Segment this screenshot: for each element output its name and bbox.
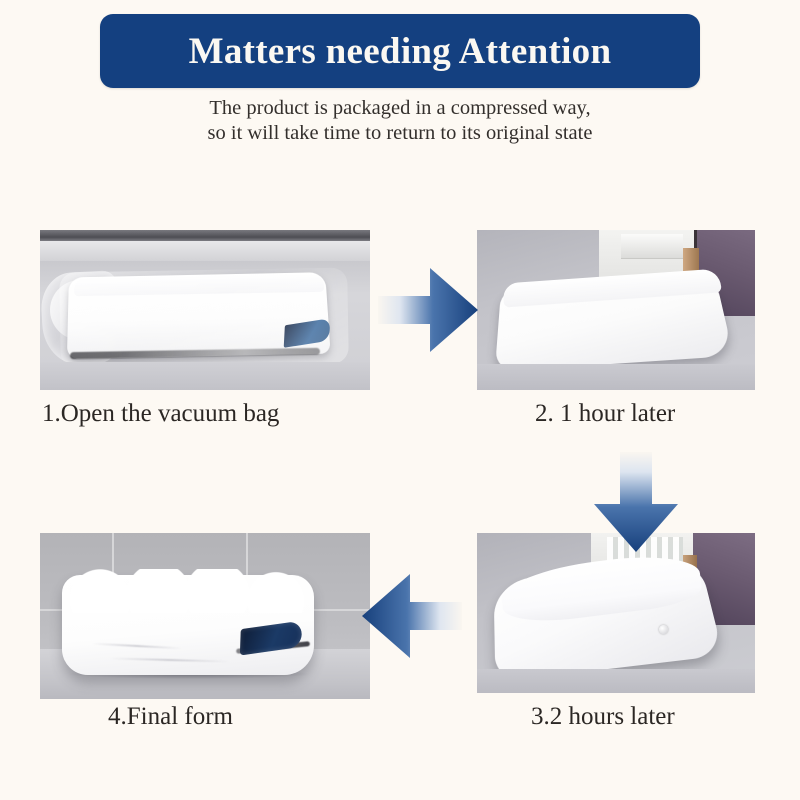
- pillow-button: [659, 625, 668, 634]
- scene-final-pillow: [40, 533, 370, 699]
- scene-lofted-pillow: [477, 533, 755, 693]
- step-caption-3: 3.2 hours later: [531, 703, 675, 731]
- step-caption-2: 2. 1 hour later: [535, 400, 675, 428]
- pillow-scalloped-top: [66, 569, 310, 613]
- scene-flat-pillow: [477, 230, 755, 390]
- infographic-page: Matters needing Attention The product is…: [0, 0, 800, 800]
- step-caption-4: 4.Final form: [108, 703, 233, 731]
- step-image-1: [40, 230, 370, 390]
- arrow-left-icon: [362, 568, 462, 664]
- subtitle: The product is packaged in a compressed …: [0, 96, 800, 146]
- title-banner: Matters needing Attention: [100, 14, 700, 88]
- scene-compressed-pillow: [40, 230, 370, 390]
- arrow-down-icon: [588, 452, 684, 552]
- step-caption-1: 1.Open the vacuum bag: [42, 400, 279, 428]
- bed-foreground: [40, 362, 370, 390]
- headboard-panel: [40, 241, 370, 261]
- page-title: Matters needing Attention: [189, 30, 612, 73]
- bed-foreground: [477, 669, 755, 693]
- arrow-right-icon: [378, 262, 478, 358]
- bed-foreground: [477, 364, 755, 390]
- step-image-2: [477, 230, 755, 390]
- subtitle-line-1: The product is packaged in a compressed …: [0, 96, 800, 121]
- subtitle-line-2: so it will take time to return to its or…: [0, 121, 800, 146]
- shelf: [621, 234, 683, 259]
- vacuum-bag-film: [59, 267, 349, 368]
- step-image-3: [477, 533, 755, 693]
- step-image-4: [40, 533, 370, 699]
